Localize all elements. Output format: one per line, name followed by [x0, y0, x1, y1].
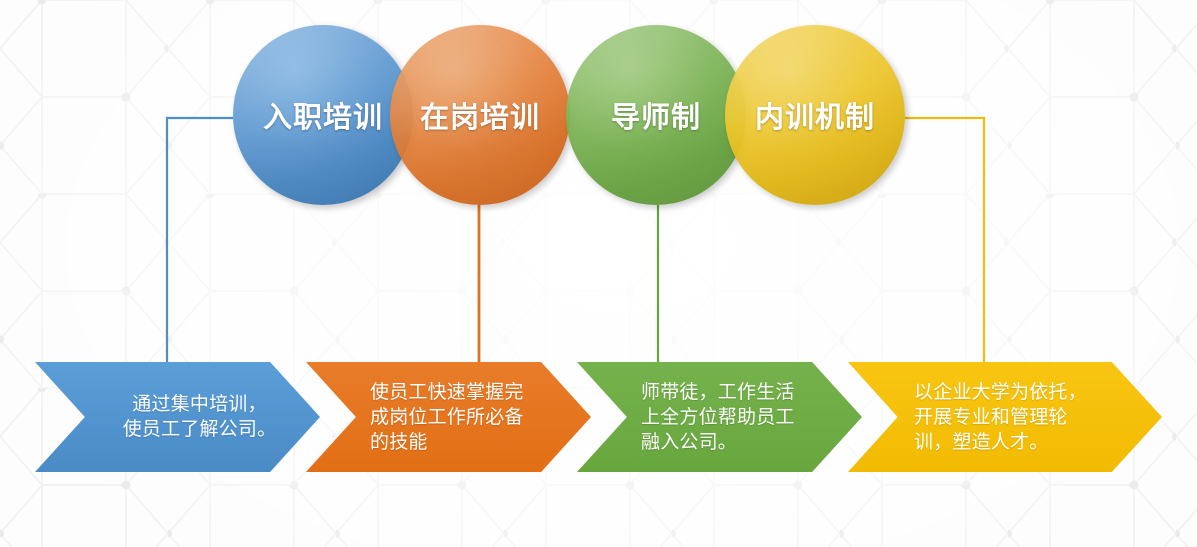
- stage-circle-3[interactable]: 导师制: [566, 25, 746, 205]
- connector-stage-1: [167, 118, 233, 366]
- diagram-canvas: 入职培训 在岗培训 导师制 内训机制 通过集中培训， 使员工了解公司。 使员工快…: [0, 0, 1197, 547]
- stage-banner-text-1: 通过集中培训， 使员工了解公司。: [107, 392, 292, 442]
- stage-circle-label-3: 导师制: [611, 94, 701, 136]
- stage-circle-label-2: 在岗培训: [420, 94, 540, 136]
- stage-circle-label-4: 内训机制: [755, 94, 875, 136]
- stage-circle-2[interactable]: 在岗培训: [390, 25, 570, 205]
- stage-circle-4[interactable]: 内训机制: [725, 25, 905, 205]
- stage-banner-text-2: 使员工快速掌握完 成岗位工作所必备 的技能: [370, 380, 565, 455]
- stage-banner-text-3: 师带徒，工作生活 上全方位帮助员工 融入公司。: [641, 380, 836, 455]
- stage-circle-label-1: 入职培训: [263, 94, 383, 136]
- stage-circle-1[interactable]: 入职培训: [233, 25, 413, 205]
- connector-stage-4: [905, 118, 984, 366]
- stage-banner-text-4: 以企业大学为依托， 开展专业和管理轮 训，塑造人才。: [914, 380, 1119, 455]
